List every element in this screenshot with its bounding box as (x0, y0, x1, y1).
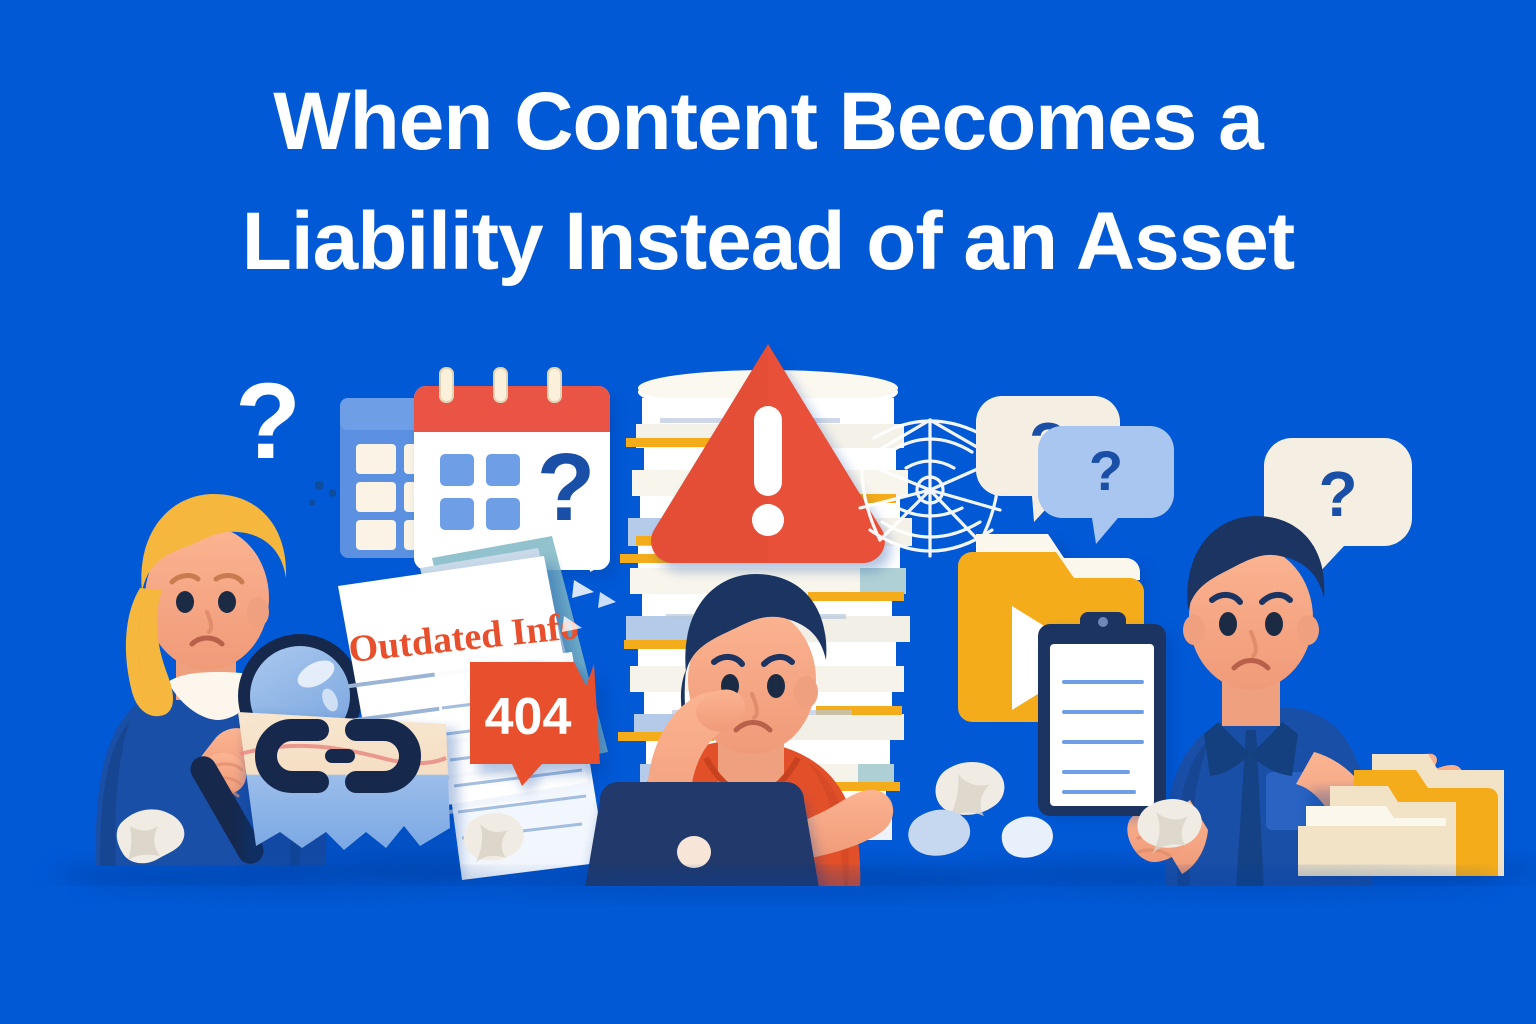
title-line-2: Liability Instead of an Asset (0, 182, 1536, 302)
svg-text:?: ? (235, 360, 301, 481)
svg-text:?: ? (537, 434, 596, 541)
page-title: When Content Becomes a Liability Instead… (0, 62, 1536, 302)
svg-text:?: ? (1089, 439, 1123, 502)
error-code-text: 404 (485, 688, 572, 746)
svg-text:?: ? (1318, 458, 1357, 530)
clipboard-icon (1038, 612, 1174, 820)
title-line-1: When Content Becomes a (0, 62, 1536, 182)
speech-bubble-2: ? (1038, 426, 1174, 544)
question-mark-large-icon: ? (235, 360, 301, 481)
hero-illustration: ? (0, 330, 1536, 930)
broken-link-paper (238, 712, 462, 880)
poster-canvas: When Content Becomes a Liability Instead… (0, 0, 1536, 1024)
debris-left (309, 481, 336, 506)
